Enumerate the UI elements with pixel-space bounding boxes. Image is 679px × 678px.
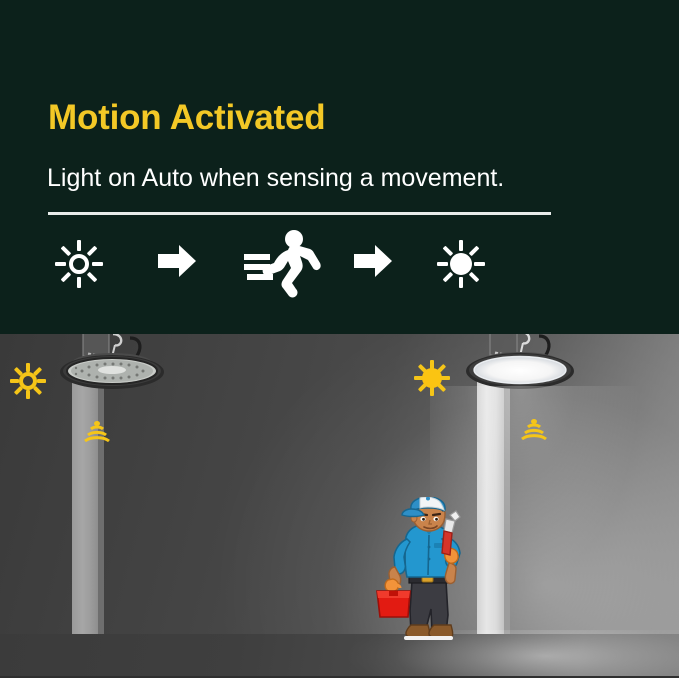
sequence-icon-strip — [48, 228, 508, 300]
sun-ray — [459, 277, 463, 288]
motion-sensor-waves-icon-right — [519, 418, 549, 449]
sun-ray — [469, 246, 480, 257]
sun-ray — [443, 246, 454, 257]
motion-activated-infographic: Motion Activated Light on Auto when sens… — [0, 0, 679, 678]
arrow-right-icon — [156, 228, 198, 300]
floor — [0, 634, 679, 678]
sun-ray — [26, 363, 30, 372]
sun-ray — [26, 390, 30, 399]
sensor-waves-graphic — [519, 418, 549, 444]
sun-ray — [37, 379, 46, 383]
scene-sun-dim-icon — [5, 358, 51, 404]
sequence-step-5 — [430, 228, 492, 300]
page-subtitle: Light on Auto when sensing a movement. — [47, 163, 504, 193]
sun-ray — [77, 240, 81, 251]
sun-bright-icon — [430, 233, 492, 295]
sun-core — [422, 368, 442, 388]
lamp-off-graphic — [52, 334, 172, 408]
sun-ray — [61, 246, 72, 257]
sun-ray — [87, 246, 98, 257]
ufo-high-bay-lamp-off — [52, 334, 172, 402]
sun-core — [450, 253, 472, 275]
sensor-waves-graphic — [82, 420, 112, 446]
running-person-icon — [244, 228, 322, 300]
sun-ray — [87, 272, 98, 283]
lamp-on-graphic — [457, 334, 583, 408]
sequence-step-1 — [48, 228, 110, 300]
sun-ray — [92, 262, 103, 266]
sun-ray — [430, 387, 434, 396]
pole-left — [72, 372, 98, 636]
sun-ray — [437, 262, 448, 266]
pole-edge — [98, 372, 104, 636]
sun-ray — [10, 379, 19, 383]
page-title: Motion Activated — [48, 98, 325, 138]
banner-panel: Motion Activated Light on Auto when sens… — [0, 0, 679, 334]
sun-ray — [443, 272, 454, 283]
divider — [48, 212, 551, 215]
arrow-right-icon — [352, 228, 394, 300]
sun-ray — [469, 272, 480, 283]
worker-graphic — [376, 497, 484, 645]
sequence-step-2 — [156, 228, 198, 300]
pole-face — [72, 372, 98, 636]
sequence-step-4 — [352, 228, 394, 300]
scene-panel — [0, 334, 679, 678]
sun-core — [19, 372, 37, 390]
pole-edge — [504, 370, 510, 636]
sun-ray — [55, 262, 66, 266]
sequence-step-3 — [244, 228, 322, 300]
sun-ray — [474, 262, 485, 266]
scene-sun-bright-icon — [409, 355, 455, 401]
sun-ray — [459, 240, 463, 251]
ufo-high-bay-lamp-on — [457, 334, 583, 402]
motion-sensor-waves-icon-left — [82, 420, 112, 451]
sun-ray — [441, 376, 450, 380]
sun-dim-icon — [48, 233, 110, 295]
sun-ray — [61, 272, 72, 283]
worker-character — [376, 497, 484, 650]
sun-core — [69, 254, 89, 274]
sun-ray — [77, 277, 81, 288]
